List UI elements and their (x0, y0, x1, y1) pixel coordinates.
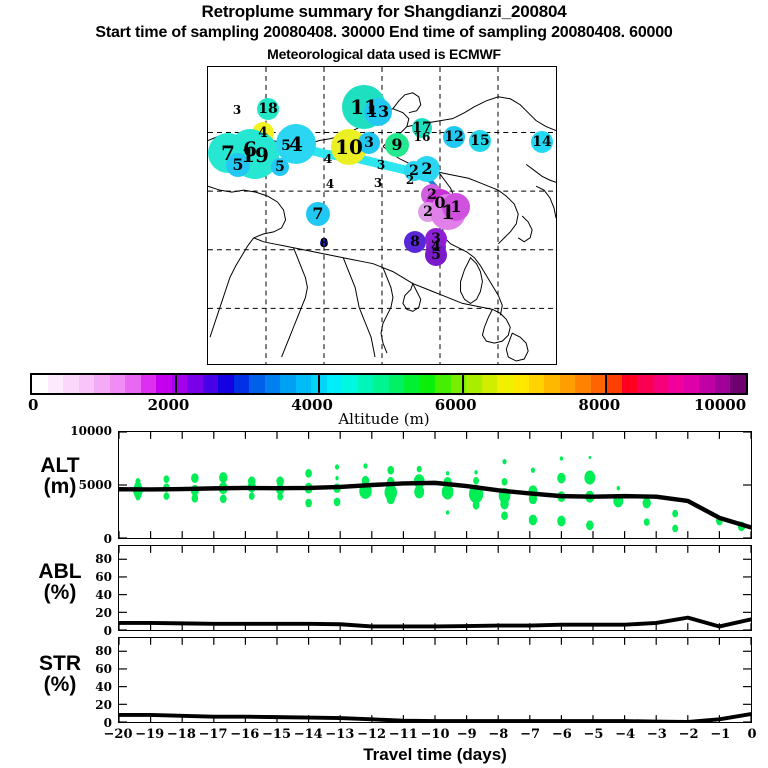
alt-bubble (277, 493, 283, 501)
x-tick-label: −1 (710, 727, 730, 742)
colorbar-segment (249, 375, 265, 393)
map-marker-label: 12 (444, 130, 463, 144)
colorbar-segment (358, 375, 374, 393)
colorbar-segment (451, 375, 467, 393)
x-tick-label: −18 (167, 727, 196, 742)
map-marker-label: 3 (233, 104, 241, 116)
colorbar-segment (684, 375, 700, 393)
colorbar-segment (466, 375, 482, 393)
altitude-colorbar (30, 373, 748, 395)
map-marker-label: 13 (367, 104, 389, 120)
y-tick-label: 10000 (66, 424, 112, 438)
alt-bubble (560, 456, 563, 460)
y-tick-label: 5000 (66, 478, 112, 492)
alt-bubble (473, 501, 480, 510)
x-tick-label: −3 (647, 727, 667, 742)
alt-bubble (191, 494, 198, 503)
colorbar-segment (280, 375, 296, 393)
colorbar-segment (544, 375, 560, 393)
map-marker-label: 7 (312, 206, 323, 222)
map-marker-label: 8 (320, 237, 328, 249)
colorbar-axis-label: Altitude (m) (0, 410, 768, 428)
y-tick-label: 60 (66, 662, 112, 676)
x-tick-label: −12 (357, 727, 386, 742)
colorbar-segment (482, 375, 498, 393)
colorbar-divider (175, 375, 177, 393)
x-tick-label: −6 (552, 727, 572, 742)
map-marker-label: 3 (364, 136, 374, 150)
colorbar-divider (605, 375, 607, 393)
alt-bubble (387, 466, 394, 475)
alt-bubble (414, 485, 424, 498)
map-marker-label: 3 (374, 177, 382, 189)
alt-bubble (672, 525, 678, 533)
x-tick-label: 0 (747, 727, 756, 742)
alt-bubble (529, 515, 537, 526)
map-marker-label: 9 (391, 137, 402, 153)
y-tick-label: 0 (66, 624, 112, 638)
y-tick-label: 40 (66, 588, 112, 602)
map-marker-label: 2 (421, 161, 432, 177)
colorbar-segment (513, 375, 529, 393)
x-tick-label: −7 (520, 727, 540, 742)
x-tick-label: −8 (488, 727, 508, 742)
colorbar-segment (575, 375, 591, 393)
colorbar-segment (296, 375, 312, 393)
alt-bubble (446, 471, 449, 475)
y-tick-label: 60 (66, 570, 112, 584)
x-tick-label: −19 (135, 727, 164, 742)
alt-bubble (335, 476, 338, 480)
x-tick-label: −17 (199, 727, 228, 742)
alt-bubble (305, 469, 312, 478)
abl-plot-panel (118, 545, 752, 631)
colorbar-segment (529, 375, 545, 393)
alt-bubble (672, 510, 678, 518)
colorbar-segment (110, 375, 126, 393)
x-tick-label: −4 (615, 727, 635, 742)
colorbar-segment (606, 375, 622, 393)
alt-bubble (643, 498, 651, 509)
colorbar-segment (497, 375, 513, 393)
map-marker-label: 4 (289, 134, 303, 154)
map-marker-label: 3 (377, 159, 385, 171)
x-tick-label: −15 (262, 727, 291, 742)
colorbar-segment (94, 375, 110, 393)
alt-bubble (589, 456, 592, 459)
alt-bubble (644, 518, 650, 526)
alt-plot-svg (119, 432, 751, 538)
colorbar-segment (730, 375, 746, 393)
sampling-time-subtitle: Start time of sampling 20080408. 30000 E… (0, 24, 768, 42)
y-tick-label: 80 (66, 644, 112, 658)
map-marker-label: 2 (406, 174, 414, 186)
map-marker-label: 15 (470, 134, 489, 148)
colorbar-segment (435, 375, 451, 393)
str-plot-panel (118, 637, 752, 723)
colorbar-segment (591, 375, 607, 393)
map-marker-label: 10 (335, 137, 363, 157)
alt-bubble (220, 494, 227, 503)
map-marker-label: 5 (232, 157, 243, 173)
map-marker-label: 4 (326, 178, 334, 190)
alt-bubble (584, 471, 595, 485)
colorbar-segment (265, 375, 281, 393)
colorbar-segment (389, 375, 405, 393)
alt-bubble (191, 473, 199, 483)
colorbar-segment (560, 375, 576, 393)
alt-bubble (219, 472, 227, 483)
colorbar-segment (48, 375, 64, 393)
colorbar-segment (203, 375, 219, 393)
map-marker-label: 8 (410, 235, 420, 249)
colorbar-segment (373, 375, 389, 393)
map-marker-label: 18 (258, 102, 277, 116)
colorbar-segment (125, 375, 141, 393)
x-tick-label: −20 (104, 727, 133, 742)
colorbar-divider (462, 375, 464, 393)
alt-bubble (474, 470, 477, 474)
x-tick-label: −9 (457, 727, 477, 742)
map-marker-label: 5 (431, 248, 441, 262)
str-plot-svg (119, 638, 751, 722)
map-marker-label: 1 (450, 199, 461, 215)
alt-plot-panel (118, 431, 752, 539)
alt-bubble (335, 464, 339, 469)
y-tick-label: 80 (66, 552, 112, 566)
map-marker-label: 5 (275, 160, 285, 174)
colorbar-segment (420, 375, 436, 393)
y-tick-label: 0 (66, 532, 112, 546)
x-tick-label: −13 (325, 727, 354, 742)
map-marker-label: 4 (324, 153, 332, 165)
alt-bubble (586, 520, 594, 530)
colorbar-segment (156, 375, 172, 393)
alt-bubble (135, 494, 140, 500)
alt-bubble (305, 499, 312, 508)
y-tick-label: 40 (66, 680, 112, 694)
x-tick-label: −5 (584, 727, 604, 742)
alt-bubble (249, 492, 255, 500)
colorbar-divider (318, 375, 320, 393)
colorbar-segment (63, 375, 79, 393)
alt-bubble (163, 492, 169, 500)
x-tick-label: −16 (230, 727, 259, 742)
alt-bubble (363, 463, 367, 468)
colorbar-segment (187, 375, 203, 393)
colorbar-segment (622, 375, 638, 393)
alt-bubble (387, 493, 395, 504)
page-title: Retroplume summary for Shangdianzi_20080… (0, 2, 768, 22)
colorbar-segment (32, 375, 48, 393)
colorbar-segment (218, 375, 234, 393)
alt-bubble (417, 466, 422, 472)
alt-bubble (502, 478, 508, 486)
colorbar-segment (699, 375, 715, 393)
retroplume-summary-figure: Retroplume summary for Shangdianzi_20080… (0, 0, 768, 768)
x-tick-label: −14 (294, 727, 323, 742)
x-tick-label: −11 (389, 727, 418, 742)
x-tick-label: −2 (679, 727, 699, 742)
alt-bubble (617, 486, 620, 490)
map-marker-label: 14 (532, 135, 551, 149)
alt-bubble (557, 516, 565, 527)
map-marker-label: 2 (423, 205, 433, 219)
alt-bubble (557, 473, 565, 484)
colorbar-segment (342, 375, 358, 393)
meteorology-subtitle: Meteorological data used is ECMWF (0, 46, 768, 62)
colorbar-segment (653, 375, 669, 393)
x-tick-label: −10 (421, 727, 450, 742)
retroplume-map: 3184761955541113103943431716121514222202… (207, 66, 557, 365)
alt-bubble (473, 477, 479, 485)
abl-plot-svg (119, 546, 751, 630)
map-marker-label: 16 (414, 131, 431, 143)
y-tick-label: 20 (66, 606, 112, 620)
map-marker-label: 4 (258, 126, 268, 140)
colorbar-segment (327, 375, 343, 393)
colorbar-segment (668, 375, 684, 393)
alt-bubble (501, 511, 508, 520)
colorbar-segment (79, 375, 95, 393)
map-marker-label: 19 (241, 145, 269, 165)
alt-bubble (531, 467, 535, 472)
alt-bubble (163, 475, 169, 483)
colorbar-segment (637, 375, 653, 393)
travel-time-axis-label: Travel time (days) (118, 745, 752, 765)
alt-bubble (334, 498, 341, 507)
alt-bubble (500, 499, 508, 510)
alt-mean-line (119, 483, 751, 528)
colorbar-segment (234, 375, 250, 393)
alt-bubble (446, 510, 449, 514)
alt-label-line: ALT (8, 455, 112, 476)
colorbar-segment (404, 375, 420, 393)
y-tick-label: 20 (66, 698, 112, 712)
colorbar-segment (141, 375, 157, 393)
alt-bubble (502, 459, 506, 464)
colorbar-segment (715, 375, 731, 393)
